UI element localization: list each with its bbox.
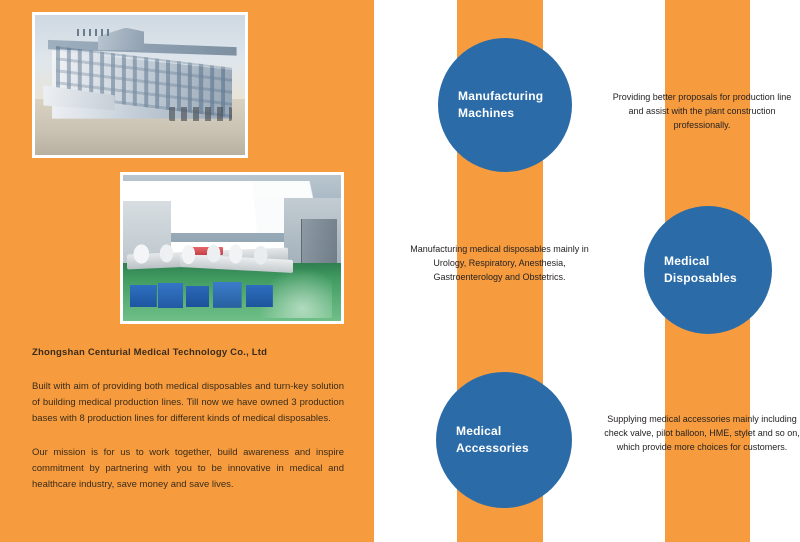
cleanroom-photo-inner — [123, 175, 341, 321]
factory-photo-inner — [35, 15, 245, 155]
cleanroom-production-line-photo — [120, 172, 344, 324]
text-block-proposals: Providing better proposals for productio… — [608, 90, 796, 132]
circle-label-medical-disposables: Medical Disposables — [644, 253, 772, 287]
factory-building-photo — [32, 12, 248, 158]
flag-poles — [77, 29, 111, 36]
circle-medical-accessories[interactable]: Medical Accessories — [436, 372, 572, 508]
circle-medical-disposables[interactable]: Medical Disposables — [644, 206, 772, 334]
circle-label-medical-accessories: Medical Accessories — [436, 423, 572, 457]
equipment-cabinet — [301, 219, 337, 269]
company-name: Zhongshan Centurial Medical Technology C… — [32, 347, 352, 358]
left-orange-panel: Zhongshan Centurial Medical Technology C… — [0, 0, 374, 542]
blue-storage-bins — [127, 279, 306, 317]
text-block-accessories: Supplying medical accessories mainly inc… — [604, 412, 800, 454]
parked-cars — [169, 107, 232, 121]
company-paragraph-2: Our mission is for us to work together, … — [32, 445, 344, 493]
text-block-manufacturing: Manufacturing medical disposables mainly… — [399, 242, 600, 284]
brochure-page: Zhongshan Centurial Medical Technology C… — [0, 0, 800, 542]
circle-label-manufacturing-machines: Manufacturing Machines — [438, 88, 572, 122]
circle-manufacturing-machines[interactable]: Manufacturing Machines — [438, 38, 572, 172]
workers-in-coveralls — [132, 236, 289, 265]
company-paragraph-1: Built with aim of providing both medical… — [32, 379, 344, 427]
